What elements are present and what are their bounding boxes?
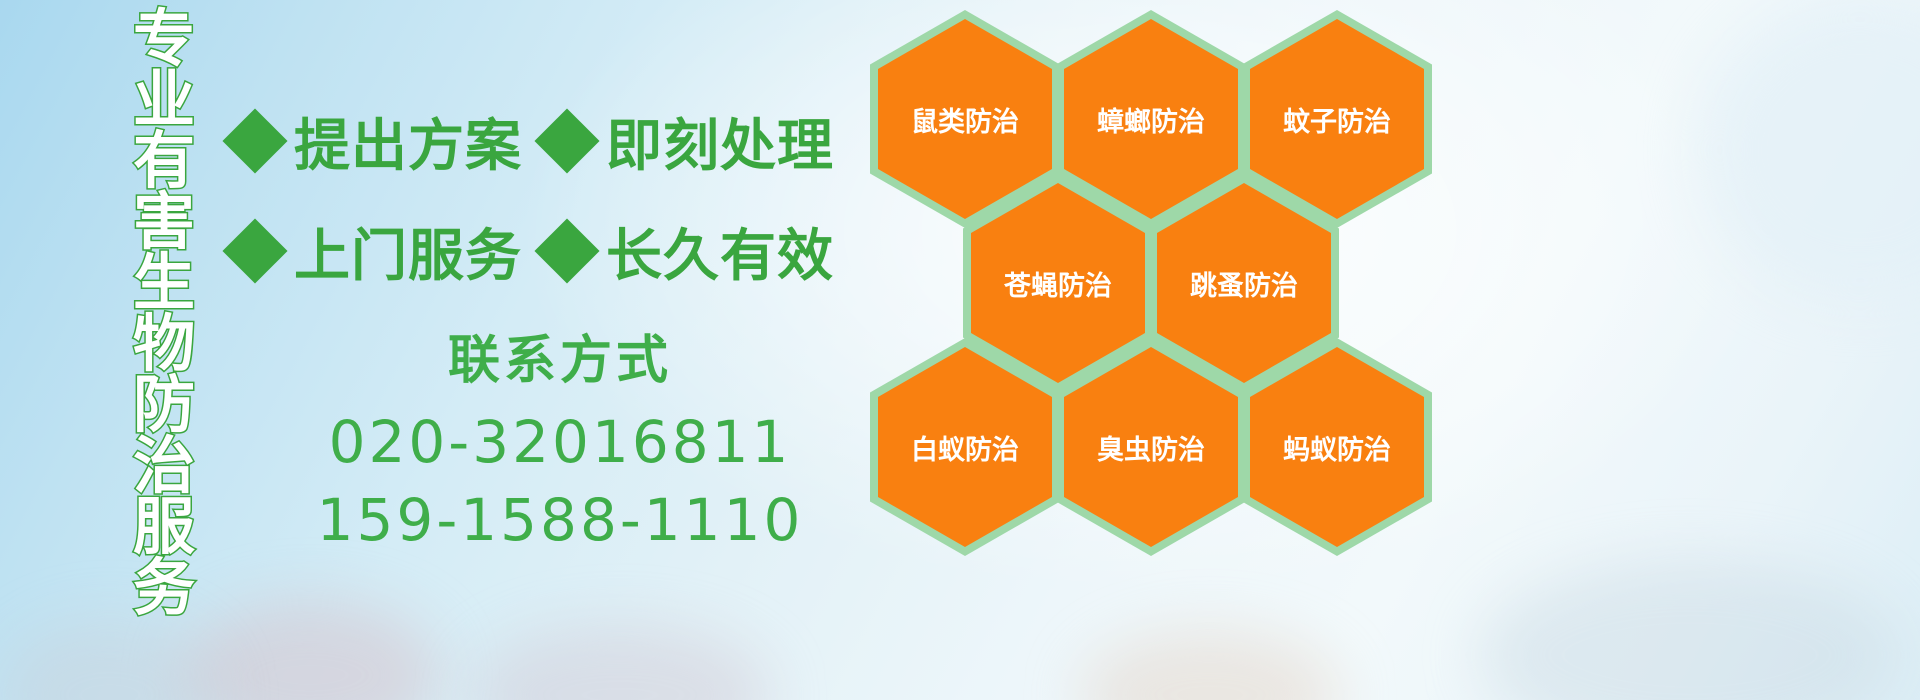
vertical-headline-char: 防 — [133, 374, 195, 435]
hexagon-inner-fill: 臭虫防治 — [1064, 347, 1238, 547]
vertical-headline-char: 专 — [133, 8, 195, 69]
feature-label: 长久有效 — [606, 211, 834, 292]
hexagon-inner-fill: 蚊子防治 — [1250, 19, 1424, 219]
feature-item: 即刻处理 — [544, 101, 834, 182]
diamond-bullet-icon — [222, 108, 287, 173]
feature-label: 即刻处理 — [606, 101, 834, 182]
feature-label: 提出方案 — [294, 101, 522, 182]
vertical-headline-char: 服 — [133, 496, 195, 557]
service-hexagon-label: 蟑螂防治 — [1097, 100, 1205, 139]
hexagon-inner-fill: 白蚁防治 — [878, 347, 1052, 547]
diamond-bullet-icon — [534, 218, 599, 283]
service-hexagon-label: 臭虫防治 — [1097, 428, 1205, 467]
contact-phone-mobile[interactable]: 159-1588-1110 — [300, 481, 820, 559]
hexagon-inner-fill: 苍蝇防治 — [971, 183, 1145, 383]
feature-item: 长久有效 — [544, 211, 834, 292]
feature-list: 提出方案 即刻处理 上门服务 长久有效 — [232, 86, 872, 306]
feature-row: 上门服务 长久有效 — [232, 196, 872, 306]
background-blur-blob — [470, 625, 770, 700]
hexagon-inner-fill: 跳蚤防治 — [1157, 183, 1331, 383]
background-blur-blob — [1080, 630, 1340, 700]
service-hexagon-label: 白蚁防治 — [911, 428, 1019, 467]
diamond-bullet-icon — [534, 108, 599, 173]
promo-banner: 专 业 有 害 生 物 防 治 服 务 提出方案 即刻处理 上门服务 — [0, 0, 1920, 700]
feature-row: 提出方案 即刻处理 — [232, 86, 872, 196]
contact-phone-landline[interactable]: 020-32016811 — [300, 403, 820, 481]
feature-label: 上门服务 — [294, 211, 522, 292]
vertical-headline-char: 生 — [133, 252, 195, 313]
contact-title: 联系方式 — [300, 318, 820, 393]
feature-item: 提出方案 — [232, 101, 522, 182]
service-hexagon-label: 蚂蚁防治 — [1283, 428, 1391, 467]
vertical-headline-char: 务 — [133, 557, 195, 618]
vertical-headline-char: 业 — [133, 69, 195, 130]
diamond-bullet-icon — [222, 218, 287, 283]
service-hexagon-label: 苍蝇防治 — [1004, 264, 1112, 303]
service-hexagon-label: 跳蚤防治 — [1190, 264, 1298, 303]
service-hexagon-label: 蚊子防治 — [1283, 100, 1391, 139]
background-blur-blob — [180, 600, 440, 700]
vertical-headline-char: 物 — [133, 313, 195, 374]
vertical-headline-char: 治 — [133, 435, 195, 496]
feature-item: 上门服务 — [232, 211, 522, 292]
hexagon-inner-fill: 鼠类防治 — [878, 19, 1052, 219]
background-blur-blob — [0, 620, 220, 700]
vertical-headline-char: 害 — [133, 191, 195, 252]
contact-block: 联系方式 020-32016811 159-1588-1110 — [300, 318, 820, 559]
service-hexagon-cluster: 鼠类防治 蟑螂防治 蚊子防治 苍蝇防治 跳蚤防治 白蚁防治 — [860, 0, 1460, 560]
vertical-headline: 专 业 有 害 生 物 防 治 服 务 — [112, 8, 216, 568]
vertical-headline-char: 有 — [133, 130, 195, 191]
background-blur-blob — [1480, 560, 1900, 700]
service-hexagon-label: 鼠类防治 — [911, 100, 1019, 139]
background-blur-blob — [1700, 0, 1920, 300]
hexagon-inner-fill: 蚂蚁防治 — [1250, 347, 1424, 547]
hexagon-inner-fill: 蟑螂防治 — [1064, 19, 1238, 219]
